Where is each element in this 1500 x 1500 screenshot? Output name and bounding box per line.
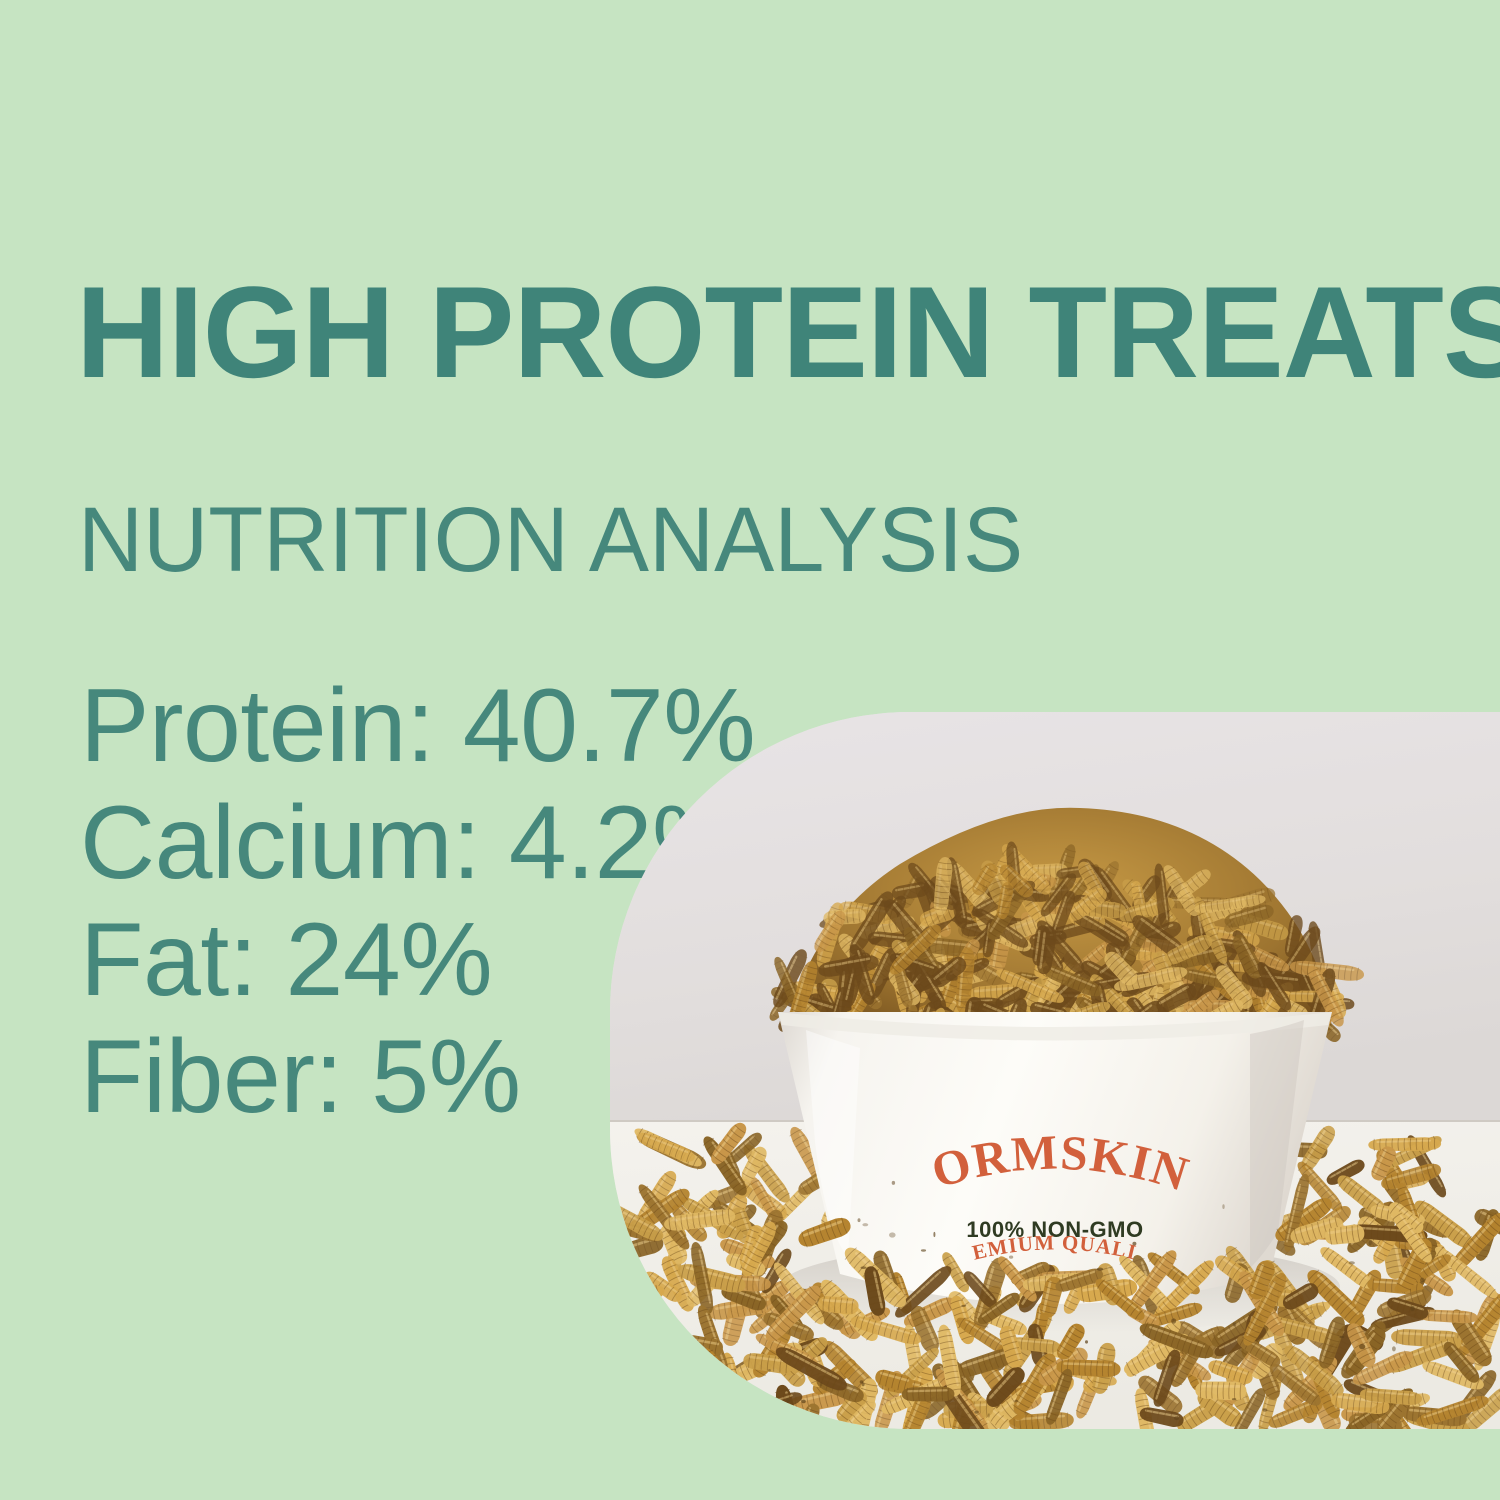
product-photo-artwork: WORMSKING 100% NON-GMO PREMIUM QUALITY <box>610 712 1500 1429</box>
product-photo: WORMSKING 100% NON-GMO PREMIUM QUALITY <box>610 712 1500 1429</box>
list-item: Protein: 40.7% <box>80 668 755 785</box>
page-title: HIGH PROTEIN TREATS <box>76 267 1500 397</box>
page-subtitle: NUTRITION ANALYSIS <box>78 494 1023 586</box>
product-infographic: HIGH PROTEIN TREATS NUTRITION ANALYSIS P… <box>0 0 1500 1500</box>
